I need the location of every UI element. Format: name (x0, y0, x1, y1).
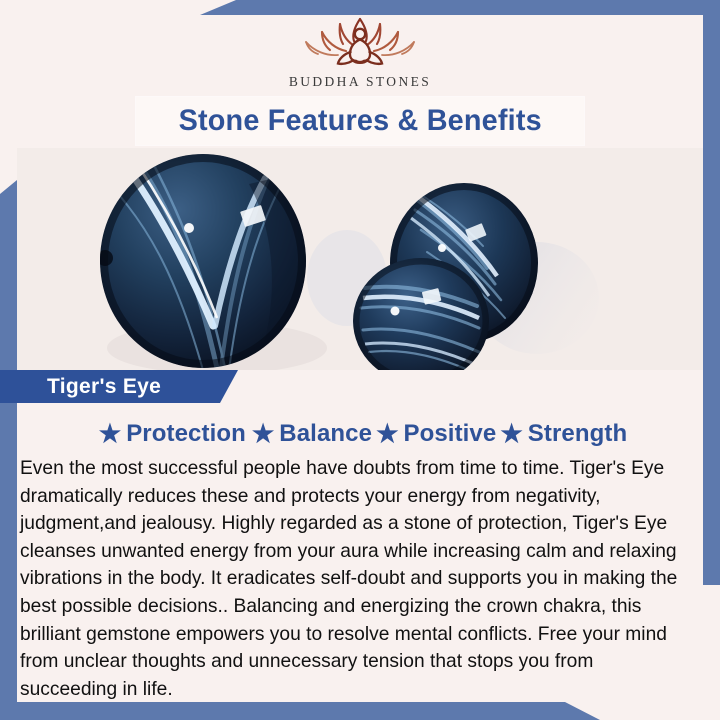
star-icon: ★ (99, 422, 121, 447)
stone-name-tag: Tiger's Eye (0, 370, 238, 403)
star-icon: ★ (252, 422, 274, 447)
title-banner: Stone Features & Benefits (136, 97, 584, 145)
lotus-meditation-icon (296, 14, 424, 72)
stone-photo (17, 148, 703, 370)
benefit-label: Protection (126, 420, 246, 448)
frame-left-bar (0, 180, 17, 720)
brand-name: BUDDHA STONES (289, 74, 431, 90)
stone-name: Tiger's Eye (47, 375, 161, 399)
benefit-item-0: ★ Protection (93, 420, 246, 448)
benefit-item-2: ★ Positive (370, 420, 496, 448)
benefit-label: Balance (279, 420, 372, 448)
star-icon: ★ (500, 422, 522, 447)
page-title: Stone Features & Benefits (178, 104, 541, 138)
stone-description: Even the most successful people have dou… (20, 455, 682, 703)
frame-bottom-bar (0, 702, 600, 720)
benefit-label: Positive (403, 420, 496, 448)
brand-logo: BUDDHA STONES (0, 14, 720, 90)
infographic-page: BUDDHA STONES Stone Features & Benefits (0, 0, 720, 720)
benefit-label: Strength (528, 420, 627, 448)
stone-photo-illustration (17, 148, 703, 370)
benefit-item-3: ★ Strength (494, 420, 627, 448)
star-icon: ★ (376, 422, 398, 447)
benefit-item-1: ★ Balance (246, 420, 372, 448)
benefits-row: ★ Protection ★ Balance ★ Positive ★ Stre… (17, 416, 703, 452)
frame-top-right-bar (200, 0, 720, 15)
